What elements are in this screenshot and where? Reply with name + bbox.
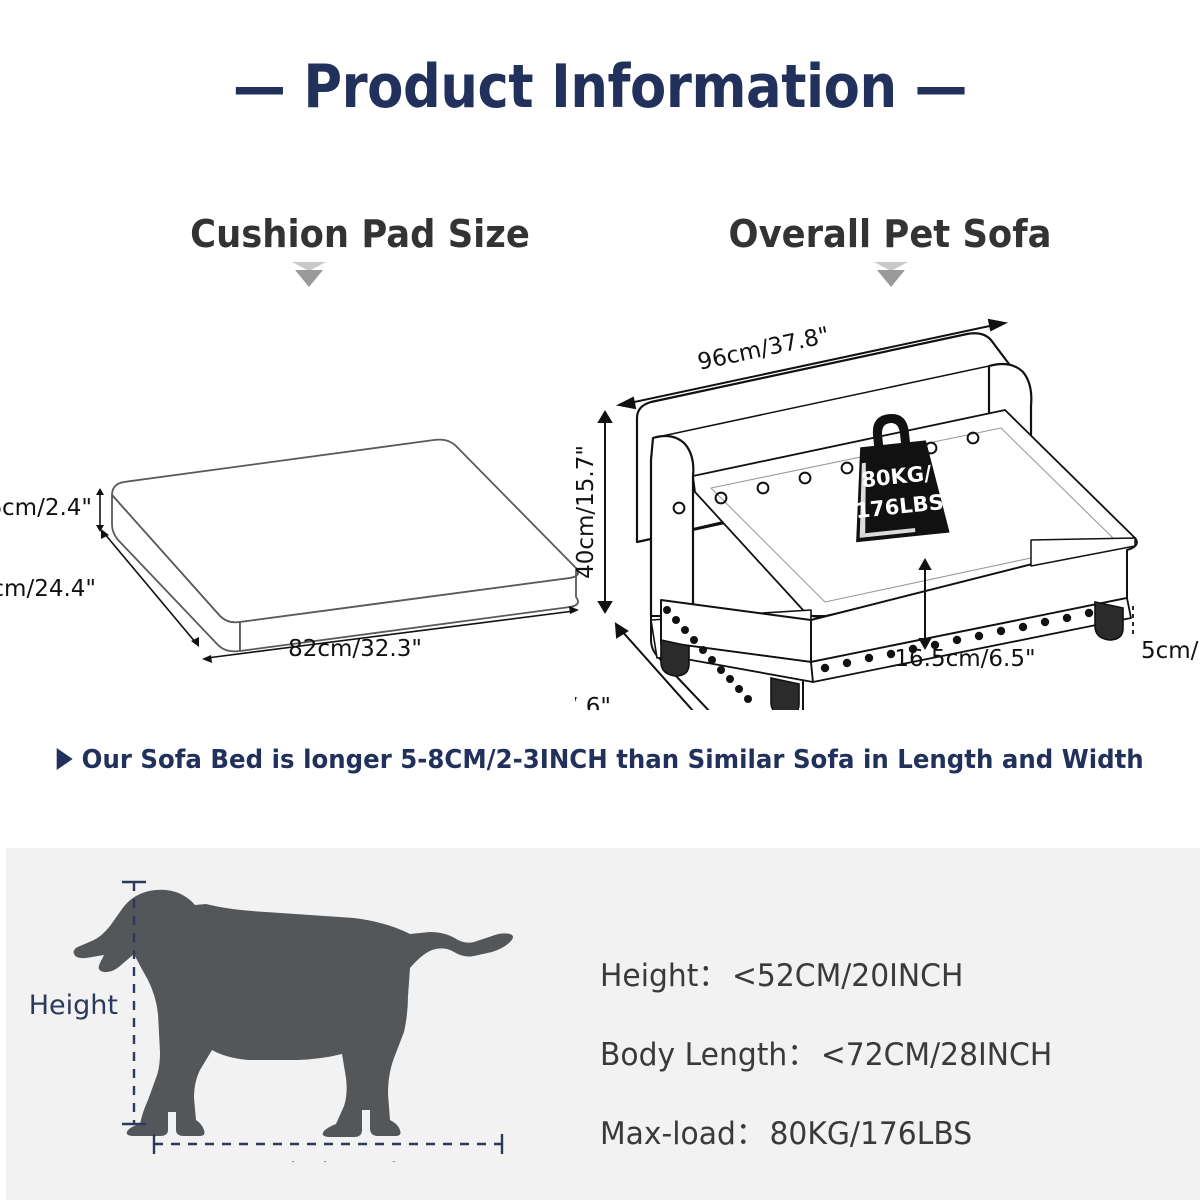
spec-row-height: Height：<52CM/20INCH — [600, 950, 1138, 995]
dog-height-label: Height — [30, 990, 118, 1021]
sofa-height-label: 40cm/15.7" — [575, 445, 599, 579]
highlight-banner-text: Our Sofa Bed is longer 5-8CM/2-3INCH tha… — [82, 745, 1144, 775]
pet-spec-list: Height：<52CM/20INCH Body Length：<72CM/28… — [600, 950, 1160, 1187]
cushion-width-label: 82cm/32.3" — [288, 636, 422, 662]
spec-value-height: <52CM/20INCH — [732, 958, 963, 994]
cushion-section-heading: Cushion Pad Size — [81, 212, 639, 256]
sofa-base-height-label: 16.5cm/6.5" — [894, 646, 1035, 672]
spec-row-body-length: Body Length：<72CM/28INCH — [600, 1029, 1138, 1074]
triangle-right-icon — [56, 748, 72, 770]
spec-value-body-length: <72CM/28INCH — [821, 1037, 1052, 1073]
spec-label-height: Height： — [600, 958, 728, 994]
spec-row-max-load: Max-load：80KG/176LBS — [600, 1108, 1138, 1153]
page-title: — Product Information — — [72, 52, 1128, 122]
sofa-depth-label: 70cm/27.6" — [575, 694, 611, 710]
dog-body-length-label: Body length — [245, 1158, 408, 1162]
cushion-pad-diagram: 6cm/2.4" 62cm/24.4" 82cm/32.3" — [0, 400, 600, 690]
cushion-thickness-label: 6cm/2.4" — [0, 495, 92, 521]
double-chevron-down-icon — [874, 262, 908, 292]
sofa-foot-height-label: 5cm/2" — [1141, 638, 1200, 664]
spec-label-body-length: Body Length： — [600, 1037, 817, 1073]
spec-value-max-load: 80KG/176LBS — [769, 1116, 972, 1152]
sofa-section-heading: Overall Pet Sofa — [630, 212, 1151, 256]
highlight-banner: Our Sofa Bed is longer 5-8CM/2-3INCH tha… — [36, 745, 1164, 775]
dog-size-diagram: Height Body length — [30, 862, 575, 1162]
cushion-depth-label: 62cm/24.4" — [0, 576, 96, 602]
spec-label-max-load: Max-load： — [600, 1116, 766, 1152]
double-chevron-down-icon — [292, 262, 326, 292]
pet-sofa-diagram: 96cm/37.8" 40cm/15.7" 70cm/27.6" 16.5cm/… — [575, 310, 1200, 710]
